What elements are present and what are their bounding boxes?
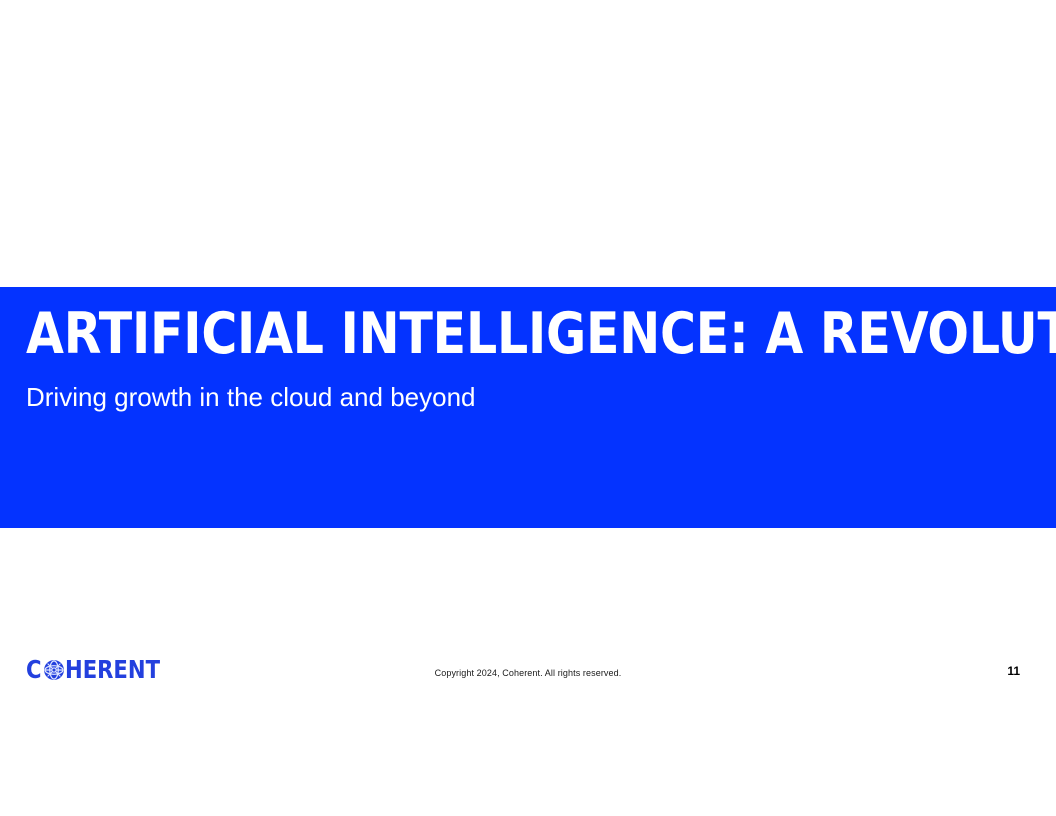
page-number: 11 [1007, 664, 1020, 678]
slide-canvas: ARTIFICIAL INTELLIGENCE: A REVOLUTION Dr… [0, 0, 1056, 816]
slide-title: ARTIFICIAL INTELLIGENCE: A REVOLUTION [26, 303, 981, 365]
title-banner: ARTIFICIAL INTELLIGENCE: A REVOLUTION Dr… [0, 287, 1056, 528]
slide-footer: C HERENT Copyright 2024, Coherent. All r… [0, 650, 1056, 695]
slide-subtitle: Driving growth in the cloud and beyond [26, 381, 476, 413]
copyright-notice: Copyright 2024, Coherent. All rights res… [0, 667, 1056, 679]
